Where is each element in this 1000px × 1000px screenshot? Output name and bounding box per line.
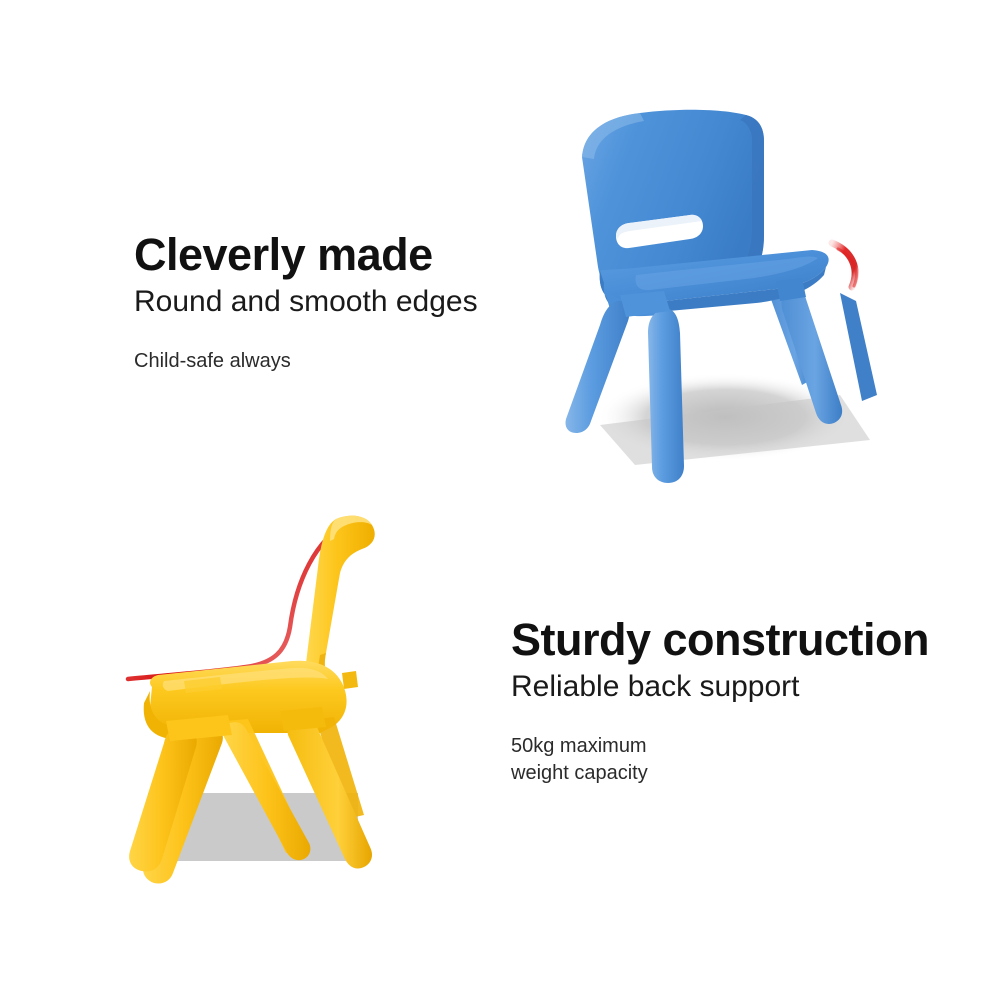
feature-headline-sturdy-construction: Sturdy construction <box>511 617 929 662</box>
feature-block-cleverly-made: Cleverly made Round and smooth edges Chi… <box>134 232 478 375</box>
feature-body-cleverly-made: Child-safe always <box>134 348 478 376</box>
feature-body-line-1: 50kg maximum <box>511 733 929 761</box>
product-image-chair-yellow <box>120 495 460 895</box>
feature-body-line-2: weight capacity <box>511 760 929 788</box>
product-image-chair-blue <box>540 95 920 495</box>
feature-subhead-sturdy-construction: Reliable back support <box>511 670 929 704</box>
feature-body-sturdy-construction: 50kg maximum weight capacity <box>511 733 929 788</box>
product-feature-canvas: Cleverly made Round and smooth edges Chi… <box>0 0 1000 1000</box>
red-arc-highlight-icon <box>832 243 856 287</box>
feature-subhead-cleverly-made: Round and smooth edges <box>134 285 478 319</box>
feature-headline-cleverly-made: Cleverly made <box>134 232 478 277</box>
feature-block-sturdy-construction: Sturdy construction Reliable back suppor… <box>511 617 929 788</box>
